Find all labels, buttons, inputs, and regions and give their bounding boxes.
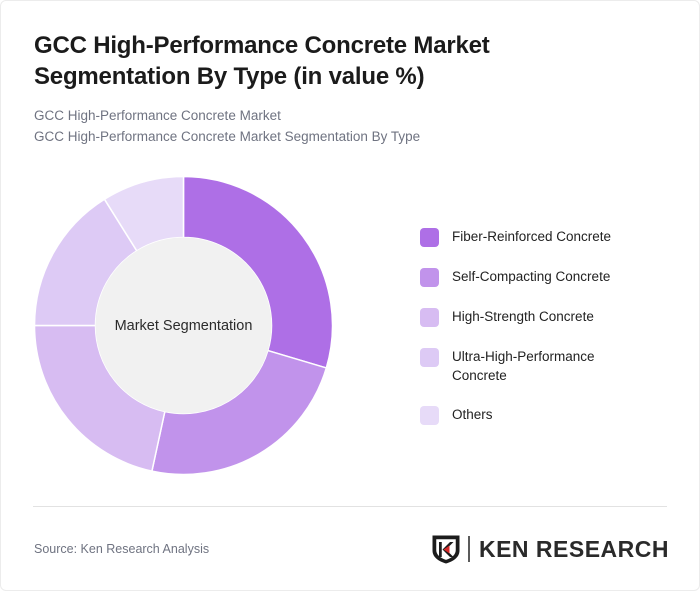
- page-title: GCC High-Performance Concrete Market Seg…: [34, 31, 534, 92]
- donut-chart: Market Segmentation: [33, 175, 334, 476]
- ken-research-shield-icon: [431, 534, 461, 565]
- legend-swatch-icon: [420, 268, 439, 287]
- chart-footer: Source: Ken Research Analysis KEN RESEAR…: [34, 526, 669, 572]
- subtitle-block: GCC High-Performance Concrete Market GCC…: [34, 106, 669, 147]
- legend-item[interactable]: High-Strength Concrete: [420, 307, 670, 327]
- chart-header: GCC High-Performance Concrete Market Seg…: [34, 31, 669, 147]
- legend-item-label: Ultra-High-Performance Concrete: [452, 347, 638, 385]
- footer-divider: [33, 506, 667, 507]
- subtitle-line-1: GCC High-Performance Concrete Market: [34, 106, 669, 127]
- legend-item-label: Fiber-Reinforced Concrete: [452, 227, 611, 246]
- donut-hole: [96, 238, 272, 414]
- chart-legend: Fiber-Reinforced ConcreteSelf-Compacting…: [420, 227, 670, 425]
- subtitle-line-2: GCC High-Performance Concrete Market Seg…: [34, 127, 669, 148]
- legend-swatch-icon: [420, 406, 439, 425]
- legend-item-label: Others: [452, 405, 493, 424]
- legend-item-label: High-Strength Concrete: [452, 307, 594, 326]
- logo-text: KEN RESEARCH: [479, 536, 669, 563]
- source-text: Source: Ken Research Analysis: [34, 542, 209, 556]
- legend-item[interactable]: Fiber-Reinforced Concrete: [420, 227, 670, 247]
- logo-divider: [468, 536, 470, 562]
- legend-item[interactable]: Self-Compacting Concrete: [420, 267, 670, 287]
- ken-research-logo: KEN RESEARCH: [431, 534, 669, 565]
- legend-item[interactable]: Ultra-High-Performance Concrete: [420, 347, 670, 385]
- donut-svg: [33, 175, 334, 476]
- legend-swatch-icon: [420, 308, 439, 327]
- legend-swatch-icon: [420, 348, 439, 367]
- legend-swatch-icon: [420, 228, 439, 247]
- legend-item-label: Self-Compacting Concrete: [452, 267, 610, 286]
- chart-card: GCC High-Performance Concrete Market Seg…: [0, 0, 700, 591]
- chart-area: Market Segmentation Fiber-Reinforced Con…: [1, 169, 700, 499]
- legend-item[interactable]: Others: [420, 405, 670, 425]
